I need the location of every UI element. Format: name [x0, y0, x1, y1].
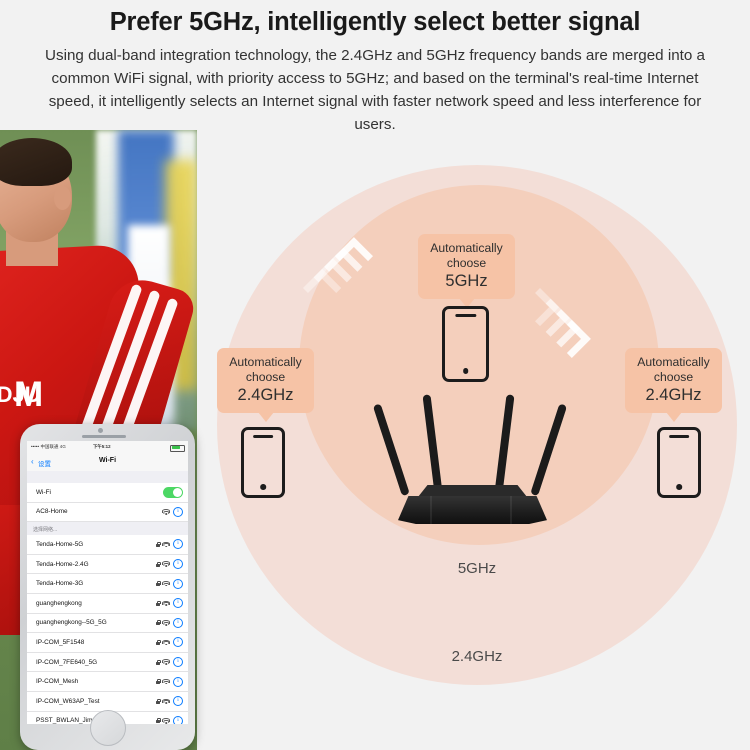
lock-icon	[156, 660, 160, 665]
list-item[interactable]: Tenda-Home-3G i	[27, 574, 188, 594]
row-label: IP-COM_Mesh	[36, 678, 78, 685]
page-description: Using dual-band integration technology, …	[28, 44, 722, 136]
info-icon[interactable]: i	[173, 657, 183, 667]
row-label: guanghengkong	[36, 600, 82, 607]
router-body	[398, 496, 547, 524]
ios-status-bar: ••••• 中国联通 4G 下午5:12	[27, 441, 188, 452]
callout-line1: Automatically	[427, 241, 506, 256]
row-label: Tenda-Home-3G	[36, 580, 83, 587]
row-label: AC8-Home	[36, 508, 68, 515]
wifi-signal-icon	[163, 561, 170, 566]
callout-line1: Automatically	[226, 355, 305, 370]
callout-top-5ghz: Automatically choose 5GHz	[418, 234, 515, 299]
callout-line2: choose	[226, 370, 305, 385]
phone-screen: ••••• 中国联通 4G 下午5:12 ‹ 设置 Wi-Fi Wi-Fi	[27, 441, 188, 724]
wifi-signal-icon	[163, 581, 170, 586]
jersey-logo-letter: M	[14, 375, 42, 415]
callout-line1: Automatically	[634, 355, 713, 370]
row-label: Tenda-Home-5G	[36, 541, 83, 548]
list-item[interactable]: IP-COM_5F1548 i	[27, 633, 188, 653]
row-accessories[interactable]	[163, 483, 183, 502]
wifi-signal-icon	[163, 620, 170, 625]
page-root: Prefer 5GHz, intelligently select better…	[0, 0, 750, 750]
wifi-signal-icon	[163, 509, 170, 514]
ios-navigation-bar: ‹ 设置 Wi-Fi	[27, 452, 188, 472]
band-label-2.4ghz: 2.4GHz	[417, 648, 537, 665]
router-facet	[430, 496, 432, 524]
row-label: IP-COM_W63AP_Test	[36, 698, 100, 705]
list-item[interactable]: IP-COM_W63AP_Test i	[27, 692, 188, 712]
list-item[interactable]: guanghengkong--5G_5G i	[27, 614, 188, 634]
wifi-signal-icon	[163, 699, 170, 704]
row-accessories[interactable]: i	[156, 692, 183, 711]
row-label: IP-COM_7FE640_5G	[36, 659, 97, 666]
row-accessories[interactable]: i	[156, 594, 183, 613]
row-label: guanghengkong--5G_5G	[36, 619, 107, 626]
front-camera-icon	[98, 428, 103, 433]
wifi-signal-icon	[163, 718, 170, 723]
lock-icon	[156, 562, 160, 567]
status-time: 下午5:12	[93, 444, 111, 450]
wifi-router-icon	[390, 392, 555, 522]
row-label: Wi-Fi	[36, 489, 51, 496]
band-label-5ghz: 5GHz	[417, 560, 537, 577]
iphone-device: ••••• 中国联通 4G 下午5:12 ‹ 设置 Wi-Fi Wi-Fi	[20, 424, 195, 750]
list-item[interactable]: IP-COM_7FE640_5G i	[27, 653, 188, 673]
list-item[interactable]: Tenda-Home-2.4G i	[27, 555, 188, 575]
info-icon[interactable]: i	[173, 539, 183, 549]
row-accessories[interactable]: i	[156, 614, 183, 633]
wifi-toggle-row[interactable]: Wi-Fi	[27, 483, 188, 503]
callout-line2: choose	[634, 370, 713, 385]
lock-icon	[156, 699, 160, 704]
smartphone-icon-left	[241, 427, 285, 498]
lock-icon	[156, 542, 160, 547]
row-accessories[interactable]: i	[156, 535, 183, 554]
phone-top-bezel	[20, 424, 195, 440]
smartphone-icon-top	[442, 306, 489, 382]
info-icon[interactable]: i	[173, 696, 183, 706]
info-icon[interactable]: i	[173, 598, 183, 608]
choose-network-header: 选择网络...	[27, 522, 188, 535]
lock-icon	[156, 640, 160, 645]
row-accessories[interactable]: i	[163, 503, 183, 522]
player-hair	[0, 138, 72, 186]
status-carrier: ••••• 中国联通 4G	[31, 444, 66, 450]
connected-network-row[interactable]: AC8-Home i	[27, 503, 188, 523]
list-item[interactable]: IP-COM_Mesh i	[27, 672, 188, 692]
info-icon[interactable]: i	[173, 559, 183, 569]
callout-left-2.4ghz: Automatically choose 2.4GHz	[217, 348, 314, 413]
home-button[interactable]	[90, 710, 126, 746]
wifi-toggle-switch[interactable]	[163, 487, 183, 499]
lock-icon	[156, 620, 160, 625]
row-label: Tenda-Home-2.4G	[36, 561, 89, 568]
info-icon[interactable]: i	[173, 637, 183, 647]
row-accessories[interactable]: i	[156, 653, 183, 672]
header-section: Prefer 5GHz, intelligently select better…	[0, 0, 750, 145]
lock-icon	[156, 718, 160, 723]
screen-title: Wi-Fi	[27, 457, 188, 464]
callout-band: 2.4GHz	[634, 385, 713, 405]
router-facet	[510, 496, 512, 524]
callout-band: 5GHz	[427, 271, 506, 291]
row-accessories[interactable]: i	[156, 712, 183, 724]
lock-icon	[156, 581, 160, 586]
lock-icon	[156, 679, 160, 684]
earpiece-speaker	[82, 435, 126, 438]
info-icon[interactable]: i	[173, 677, 183, 687]
router-antenna	[422, 394, 442, 497]
row-label: IP-COM_5F1548	[36, 639, 84, 646]
dual-band-diagram: 5GHz 2.4GHz Automatically choose 5GHz Au…	[195, 130, 750, 750]
row-accessories[interactable]: i	[156, 633, 183, 652]
info-icon[interactable]: i	[173, 507, 183, 517]
list-spacer	[27, 471, 188, 483]
callout-right-2.4ghz: Automatically choose 2.4GHz	[625, 348, 722, 413]
wifi-signal-icon	[163, 679, 170, 684]
page-title: Prefer 5GHz, intelligently select better…	[0, 8, 750, 37]
smartphone-icon-right	[657, 427, 701, 498]
player-ear	[54, 186, 71, 210]
wifi-signal-icon	[163, 640, 170, 645]
callout-band: 2.4GHz	[226, 385, 305, 405]
info-icon[interactable]: i	[173, 716, 183, 724]
row-accessories[interactable]: i	[156, 555, 183, 574]
callout-line2: choose	[427, 256, 506, 271]
wifi-signal-icon	[163, 542, 170, 547]
list-item[interactable]: Tenda-Home-5G i	[27, 535, 188, 555]
lock-icon	[156, 601, 160, 606]
battery-icon	[170, 445, 185, 452]
router-antenna	[494, 394, 514, 497]
row-accessories[interactable]: i	[156, 672, 183, 691]
list-item[interactable]: guanghengkong i	[27, 594, 188, 614]
info-icon[interactable]: i	[173, 579, 183, 589]
wifi-signal-icon	[163, 601, 170, 606]
row-accessories[interactable]: i	[156, 574, 183, 593]
wifi-signal-icon	[163, 659, 170, 664]
info-icon[interactable]: i	[173, 618, 183, 628]
wifi-network-list[interactable]: Wi-Fi AC8-Home i 选择网络... Tenda-Home-5G	[27, 471, 188, 724]
